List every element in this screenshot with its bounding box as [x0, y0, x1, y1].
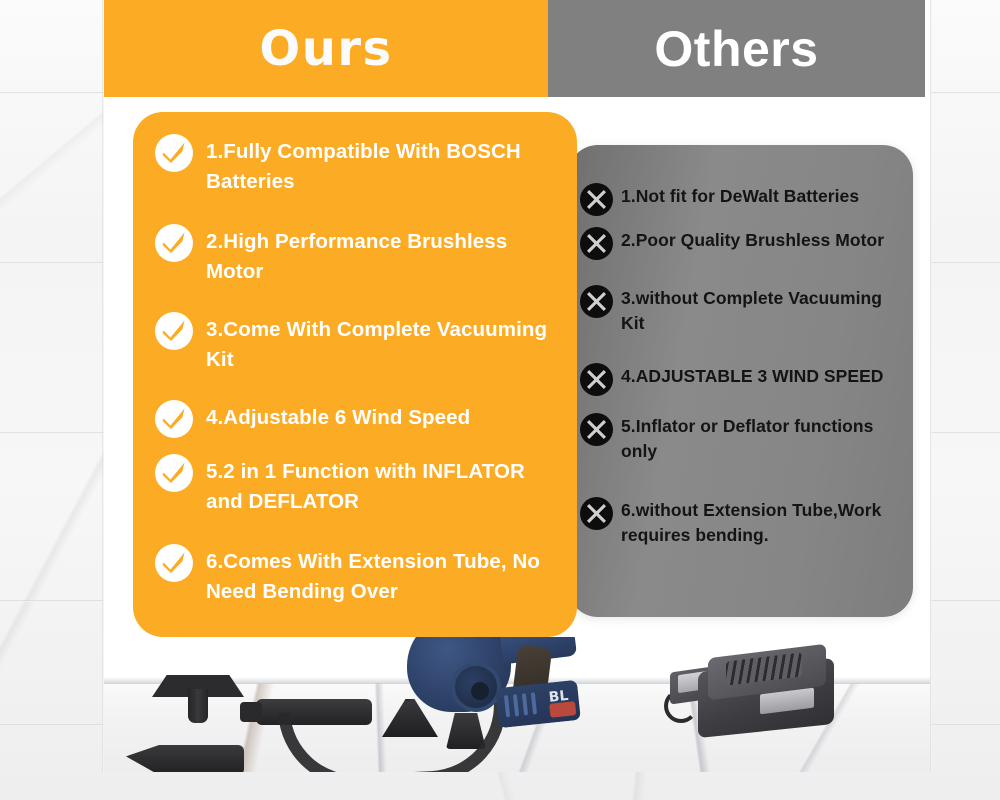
- ours-title: Ours: [259, 21, 392, 77]
- check-icon: [155, 544, 193, 582]
- list-item-label: 4.ADJUSTABLE 3 WIND SPEED: [621, 363, 884, 389]
- list-item: 5.2 in 1 Function with INFLATOR and DEFL…: [133, 454, 577, 517]
- list-item: 3.without Complete Vacuuming Kit: [568, 285, 913, 336]
- list-item: 4.ADJUSTABLE 3 WIND SPEED: [568, 363, 913, 396]
- check-icon: [155, 224, 193, 262]
- battery-fins: [504, 695, 510, 717]
- cross-icon: [580, 183, 613, 216]
- cross-icon: [586, 369, 607, 390]
- cross-icon: [580, 227, 613, 260]
- check-icon: [155, 134, 193, 172]
- list-item-label: 4.Adjustable 6 Wind Speed: [206, 400, 470, 433]
- list-item-label: 3.Come With Complete Vacuuming Kit: [206, 312, 551, 375]
- check-icon: [155, 312, 193, 350]
- list-item: 5.Inflator or Deflator functions only: [568, 413, 913, 464]
- check-icon: [155, 400, 193, 438]
- list-item: 2.Poor Quality Brushless Motor: [568, 227, 913, 260]
- check-icon: [162, 232, 186, 254]
- brush-nozzle-neck: [188, 689, 208, 723]
- product-scene: BL: [104, 637, 930, 772]
- list-item: 6.without Extension Tube,Work requires b…: [568, 497, 913, 548]
- cordless-blower-product: BL: [389, 637, 584, 742]
- cross-icon: [586, 503, 607, 524]
- cross-icon: [580, 285, 613, 318]
- list-item-label: 5.2 in 1 Function with INFLATOR and DEFL…: [206, 454, 551, 517]
- blower-housing: [407, 637, 511, 712]
- list-item-label: 6.Comes With Extension Tube, No Need Ben…: [206, 544, 551, 607]
- cross-icon: [580, 497, 613, 530]
- others-feature-card: 1.Not fit for DeWalt Batteries2.Poor Qua…: [568, 145, 913, 617]
- ours-feature-card: 1.Fully Compatible With BOSCH Batteries2…: [133, 112, 577, 637]
- check-icon: [162, 142, 186, 164]
- cross-icon: [586, 189, 607, 210]
- check-icon: [162, 320, 186, 342]
- list-item-label: 3.without Complete Vacuuming Kit: [621, 285, 899, 336]
- cross-icon: [586, 291, 607, 312]
- check-icon: [162, 408, 186, 430]
- check-icon: [162, 552, 186, 574]
- list-item-label: 2.High Performance Brushless Motor: [206, 224, 551, 287]
- list-item-label: 6.without Extension Tube,Work requires b…: [621, 497, 899, 548]
- blower-battery-pack: BL: [495, 680, 581, 728]
- list-item-label: 1.Fully Compatible With BOSCH Batteries: [206, 134, 551, 197]
- cross-icon: [586, 233, 607, 254]
- list-item-label: 2.Poor Quality Brushless Motor: [621, 227, 884, 253]
- list-item: 1.Not fit for DeWalt Batteries: [568, 183, 913, 216]
- cross-icon: [586, 419, 607, 440]
- cross-icon: [580, 413, 613, 446]
- list-item-label: 5.Inflator or Deflator functions only: [621, 413, 899, 464]
- battery-red-accent: [549, 701, 576, 718]
- header-ours: Ours: [104, 0, 548, 97]
- list-item: 1.Fully Compatible With BOSCH Batteries: [133, 134, 577, 197]
- others-title: Others: [654, 20, 818, 78]
- blower-fan-hub: [471, 682, 489, 700]
- list-item: 6.Comes With Extension Tube, No Need Ben…: [133, 544, 577, 607]
- blower-fan-ring: [451, 662, 501, 712]
- list-item: 3.Come With Complete Vacuuming Kit: [133, 312, 577, 375]
- list-item-label: 1.Not fit for DeWalt Batteries: [621, 183, 859, 209]
- check-icon: [155, 454, 193, 492]
- check-icon: [162, 462, 186, 484]
- list-item: 4.Adjustable 6 Wind Speed: [133, 400, 577, 438]
- list-item: 2.High Performance Brushless Motor: [133, 224, 577, 287]
- header-others: Others: [548, 0, 925, 97]
- battery-charger-product: [664, 643, 844, 739]
- cross-icon: [580, 363, 613, 396]
